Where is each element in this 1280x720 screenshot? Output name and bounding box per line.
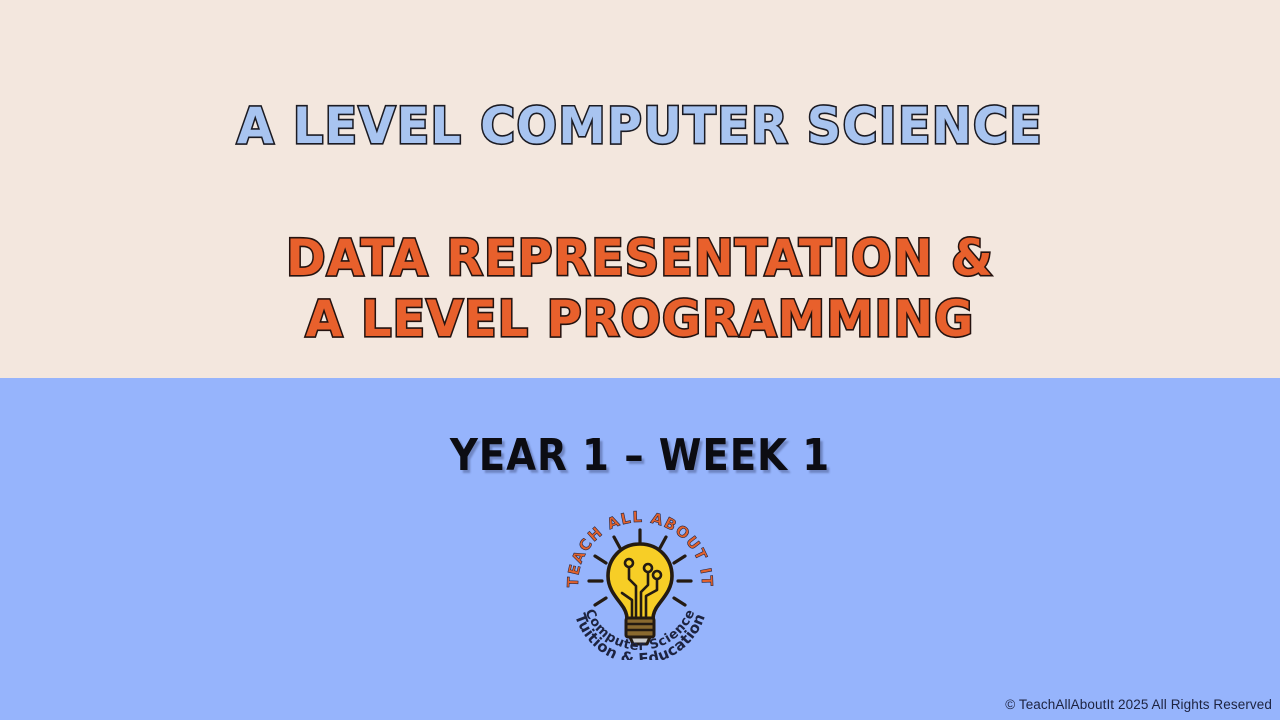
course-title: A LEVEL COMPUTER SCIENCE — [32, 96, 1248, 156]
topic-title: DATA REPRESENTATION & A LEVEL PROGRAMMIN… — [32, 228, 1248, 350]
title-slide: A LEVEL COMPUTER SCIENCE DATA REPRESENTA… — [0, 0, 1280, 720]
topic-title-line-1: DATA REPRESENTATION & — [286, 229, 994, 287]
brand-logo: TEACH ALL ABOUT IT Computer Science Tuit… — [562, 508, 718, 660]
headline-area: A LEVEL COMPUTER SCIENCE DATA REPRESENTA… — [0, 0, 1280, 378]
topic-title-line-2: A LEVEL PROGRAMMING — [32, 289, 1248, 350]
copyright-notice: © TeachAllAboutIt 2025 All Rights Reserv… — [1005, 696, 1272, 713]
week-label: YEAR 1 – WEEK 1 — [77, 428, 1203, 484]
